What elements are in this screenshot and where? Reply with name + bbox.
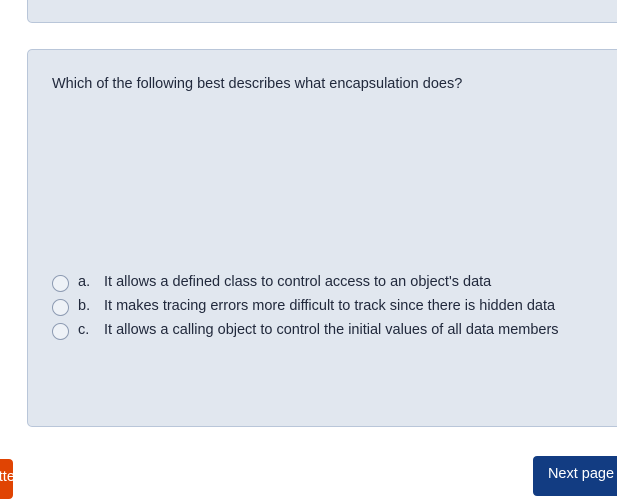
answer-option-c[interactable]: c. It allows a calling object to control…	[52, 320, 612, 341]
answer-text-a[interactable]: It allows a defined class to control acc…	[104, 272, 574, 293]
answer-option-a[interactable]: a. It allows a defined class to control …	[52, 272, 612, 293]
answer-key-c: c.	[78, 320, 104, 341]
finish-attempt-button[interactable]: Finish attempt	[0, 459, 13, 499]
answer-text-b[interactable]: It makes tracing errors more difficult t…	[104, 296, 574, 317]
question-text: Which of the following best describes wh…	[52, 74, 462, 94]
next-page-button[interactable]: Next page	[533, 456, 617, 496]
radio-button-b[interactable]	[52, 299, 69, 316]
answer-text-c[interactable]: It allows a calling object to control th…	[104, 320, 574, 341]
radio-button-c[interactable]	[52, 323, 69, 340]
radio-button-a[interactable]	[52, 275, 69, 292]
question-panel: Which of the following best describes wh…	[27, 49, 617, 427]
answer-key-a: a.	[78, 272, 104, 293]
previous-question-panel	[27, 0, 617, 23]
answer-key-b: b.	[78, 296, 104, 317]
answer-option-b[interactable]: b. It makes tracing errors more difficul…	[52, 296, 612, 317]
answer-options-list: a. It allows a defined class to control …	[52, 272, 612, 344]
